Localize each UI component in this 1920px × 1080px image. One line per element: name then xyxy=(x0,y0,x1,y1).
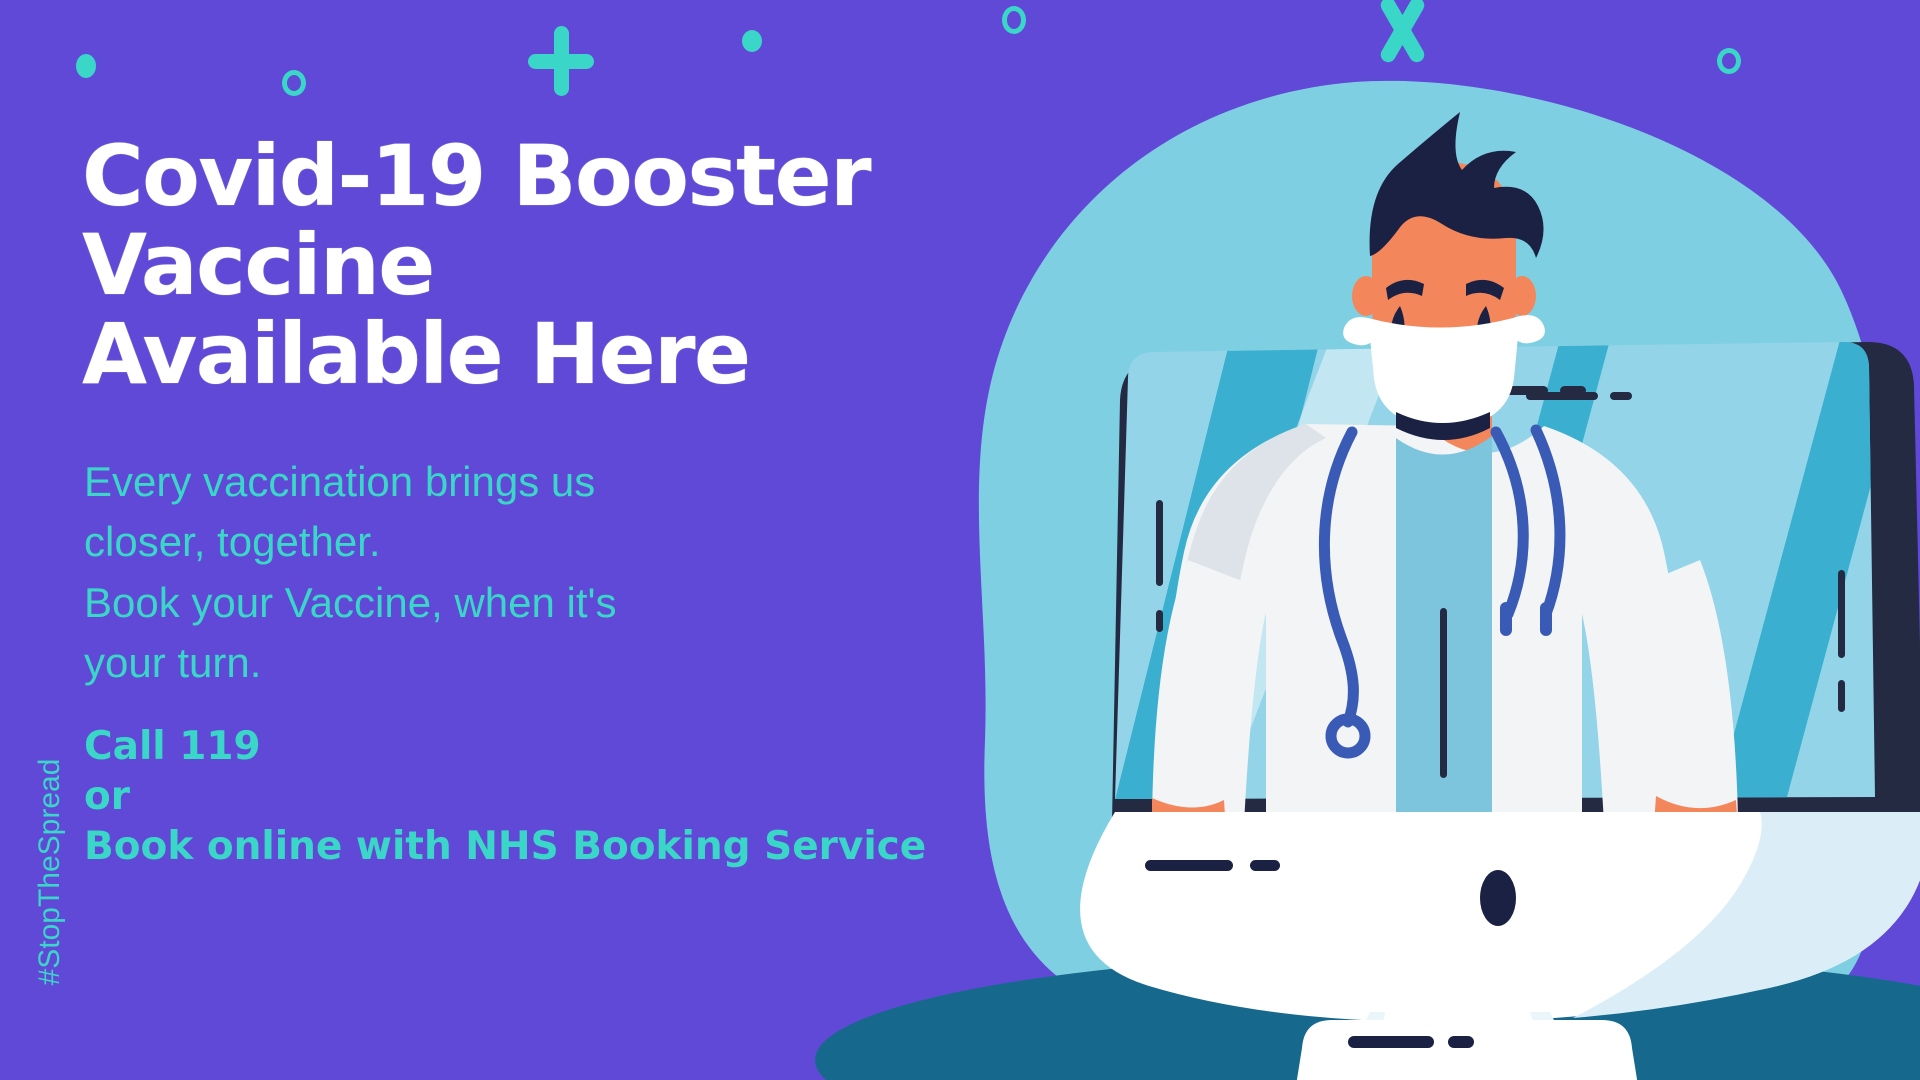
doctor-hand-left xyxy=(1152,798,1226,840)
monitor-tick-left-2 xyxy=(1156,610,1163,632)
monitor-logo-line-2 xyxy=(1250,860,1280,871)
doctor-coat xyxy=(1160,424,1690,824)
doctor-hair xyxy=(1370,112,1544,258)
ring-top-center xyxy=(1002,6,1026,34)
monitor-logo-line xyxy=(1145,860,1233,871)
stand-foot-line-2 xyxy=(1448,1036,1474,1048)
doctor-eye-left xyxy=(1391,306,1405,338)
x-icon xyxy=(1372,0,1434,66)
doctor-collar xyxy=(1396,412,1490,440)
mask-strap-right xyxy=(1514,315,1545,343)
doctor-ear-right xyxy=(1508,276,1536,316)
stand-foot-line xyxy=(1348,1036,1434,1048)
dot-top-center xyxy=(742,30,762,52)
mask-strap-left xyxy=(1343,317,1374,345)
doctor-hand-right xyxy=(1654,796,1738,838)
ring-top-right xyxy=(1717,48,1741,74)
ring-top-left xyxy=(282,70,306,96)
doctor-arm-right xyxy=(1628,560,1738,826)
poster-canvas: Covid-19 Booster Vaccine Available Here … xyxy=(0,0,1920,1080)
page-title: Covid-19 Booster Vaccine Available Here xyxy=(82,132,1202,399)
call-to-action-block: Call 119 or Book online with NHS Booking… xyxy=(84,722,1084,872)
monitor-tick-top xyxy=(1480,386,1548,395)
doctor-coat-seam xyxy=(1440,608,1447,778)
coat-pocket-line-2 xyxy=(1610,392,1632,400)
doctor-arm-left xyxy=(1152,560,1260,826)
monitor-tick-top-2 xyxy=(1560,386,1586,395)
monitor-power-dot xyxy=(1480,870,1516,926)
doctor-eye-right xyxy=(1477,306,1491,338)
doctor-coat-shade xyxy=(1172,424,1326,698)
doctor-eyebrow-left xyxy=(1386,280,1424,300)
stethoscope-binaural-left xyxy=(1496,432,1523,614)
monitor-tick-left xyxy=(1156,500,1163,586)
monitor-tick-right-2 xyxy=(1838,680,1845,712)
monitor-stand-neck xyxy=(1326,1012,1594,1080)
stethoscope-tip-left xyxy=(1500,602,1512,636)
cta-booking-line[interactable]: Book online with NHS Booking Service xyxy=(84,822,1084,872)
headline-block: Covid-19 Booster Vaccine Available Here xyxy=(82,132,1202,399)
plus-icon xyxy=(528,26,594,96)
doctor-head xyxy=(1372,162,1516,380)
monitor-stand-neck-hl xyxy=(1370,1008,1538,1080)
doctor-neck-shadow xyxy=(1396,330,1492,396)
doctor-scrubs xyxy=(1396,436,1492,830)
doctor-neck xyxy=(1396,330,1492,520)
stethoscope-chestpiece xyxy=(1331,719,1365,753)
dot-top-left xyxy=(76,54,96,78)
coat-pocket-line xyxy=(1526,392,1598,400)
stethoscope-binaural-right xyxy=(1536,430,1560,614)
cta-call-line[interactable]: Call 119 xyxy=(84,722,1084,772)
monitor-base-shell xyxy=(1080,812,1920,1022)
hashtag-stopthespread: #StopTheSpread xyxy=(33,712,67,1032)
subheadline-text: Every vaccination brings us closer, toge… xyxy=(84,452,784,694)
monitor-tick-right xyxy=(1838,570,1845,658)
monitor-base-shell-shade xyxy=(1573,812,1920,1018)
doctor-face-mask xyxy=(1368,316,1520,428)
doctor-eyebrow-right xyxy=(1466,280,1504,300)
floor-shadow xyxy=(815,952,1920,1080)
monitor-stand-foot xyxy=(1294,1020,1640,1080)
doctor-ear-left xyxy=(1352,276,1380,316)
stethoscope-tip-right xyxy=(1540,602,1552,636)
stethoscope-tube xyxy=(1324,432,1353,722)
cta-or-line: or xyxy=(84,772,1084,822)
monitor-frame xyxy=(1112,342,1920,822)
